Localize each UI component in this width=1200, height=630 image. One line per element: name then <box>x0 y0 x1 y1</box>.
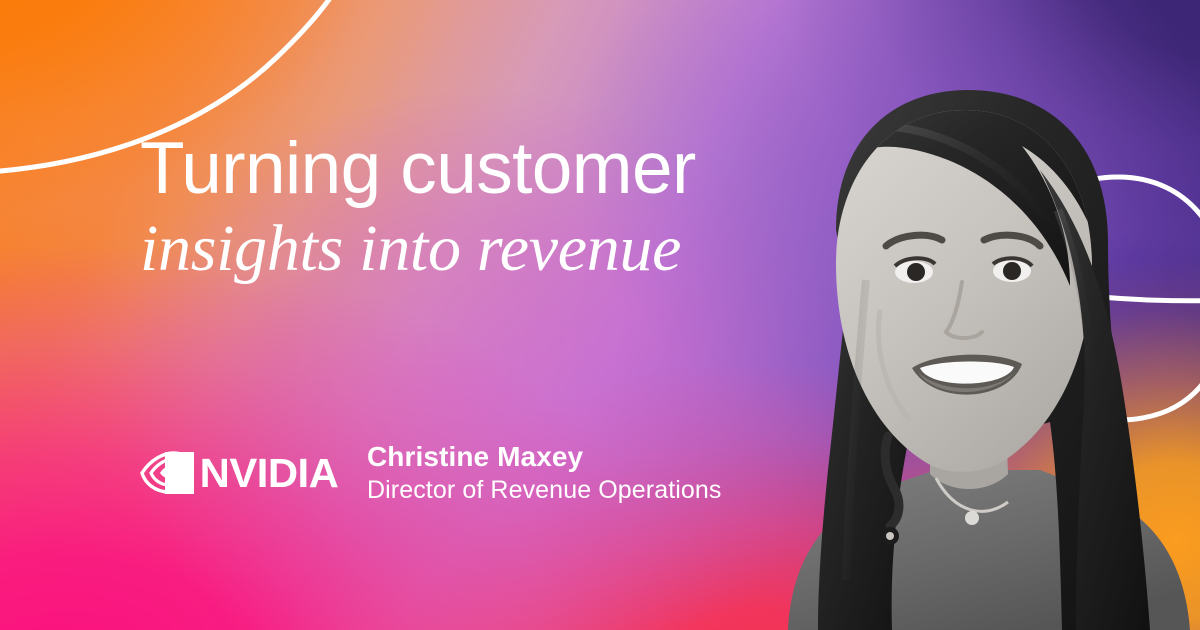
promo-card: Turning customer insights into revenue <box>0 0 1200 630</box>
speaker-info: Christine Maxey Director of Revenue Oper… <box>367 440 722 506</box>
speaker-name: Christine Maxey <box>367 440 722 474</box>
headline-line-1: Turning customer <box>140 126 820 212</box>
card-content: Turning customer insights into revenue <box>0 0 1200 630</box>
nvidia-wordmark: NVIDIA <box>200 453 339 494</box>
speaker-role: Director of Revenue Operations <box>367 474 722 506</box>
speaker-bar: NVIDIA Christine Maxey Director of Reven… <box>140 440 722 506</box>
headline: Turning customer insights into revenue <box>140 126 820 288</box>
nvidia-eye-icon <box>140 448 196 498</box>
headline-line-2: insights into revenue <box>140 210 820 288</box>
nvidia-logo: NVIDIA <box>140 448 337 498</box>
